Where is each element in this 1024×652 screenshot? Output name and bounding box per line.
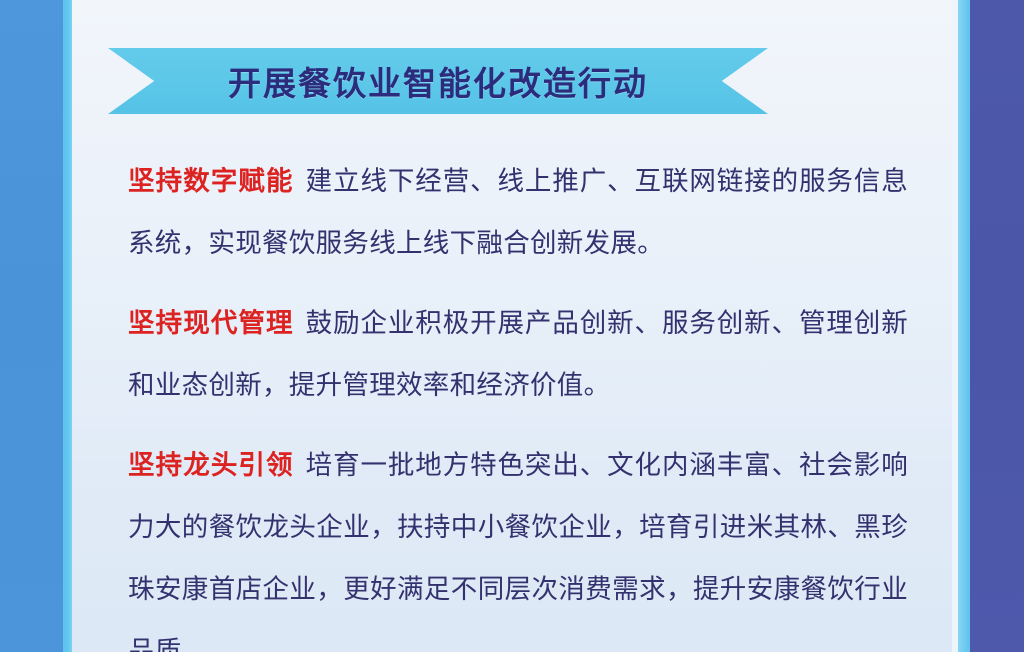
- left-cyan-strip: [63, 0, 72, 652]
- title-ribbon: 开展餐饮业智能化改造行动: [108, 48, 768, 114]
- paragraph-item: 坚持龙头引领培育一批地方特色突出、文化内涵丰富、社会影响力大的餐饮龙头企业，扶持…: [128, 434, 908, 652]
- paragraph-body-text: 培育一批地方特色突出、文化内涵丰富、社会影响力大的餐饮龙头企业，扶持中小餐饮企业…: [128, 450, 908, 652]
- right-indigo-band: [970, 0, 1024, 652]
- left-blue-band: [0, 0, 63, 652]
- paragraph-list: 坚持数字赋能建立线下经营、线上推广、互联网链接的服务信息系统，实现餐饮服务线上线…: [128, 150, 908, 652]
- right-cyan-strip: [958, 0, 970, 652]
- paragraph-item: 坚持现代管理鼓励企业积极开展产品创新、服务创新、管理创新和业态创新，提升管理效率…: [128, 292, 908, 416]
- paragraph-lead-label: 坚持现代管理: [128, 308, 294, 338]
- paragraph-lead-label: 坚持数字赋能: [128, 166, 294, 196]
- infographic-poster: 开展餐饮业智能化改造行动 坚持数字赋能建立线下经营、线上推广、互联网链接的服务信…: [0, 0, 1024, 652]
- paragraph-item: 坚持数字赋能建立线下经营、线上推广、互联网链接的服务信息系统，实现餐饮服务线上线…: [128, 150, 908, 274]
- page-title: 开展餐饮业智能化改造行动: [108, 48, 768, 114]
- paragraph-lead-label: 坚持龙头引领: [128, 450, 294, 480]
